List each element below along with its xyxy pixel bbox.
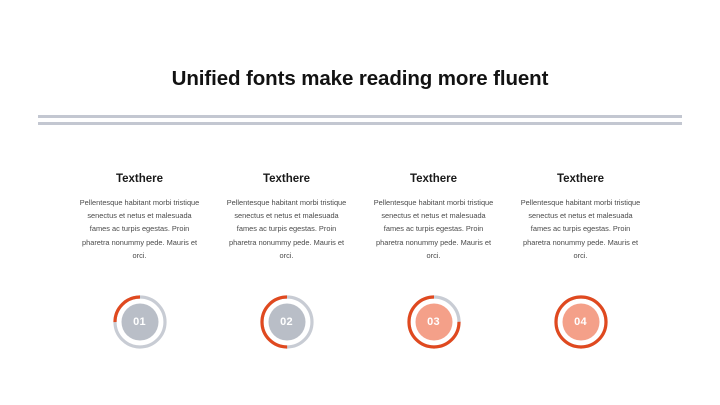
page-title: Unified fonts make reading more fluent — [0, 66, 720, 92]
column-body-text: Pellentesque habitant morbi tristique se… — [78, 196, 202, 262]
column-3: Texthere Pellentesque habitant morbi tri… — [361, 172, 506, 262]
column-2: Texthere Pellentesque habitant morbi tri… — [214, 172, 359, 262]
badge-cell-2: 02 — [214, 294, 359, 350]
progress-badge-row: 01 02 03 — [0, 294, 720, 350]
column-heading: Texthere — [116, 172, 163, 186]
column-heading: Texthere — [557, 172, 604, 186]
text-columns: Texthere Pellentesque habitant morbi tri… — [0, 172, 720, 262]
progress-badge-03: 03 — [406, 294, 462, 350]
badge-cell-4: 04 — [508, 294, 653, 350]
divider-line-bottom — [38, 122, 682, 125]
progress-ring-icon — [553, 294, 609, 350]
progress-badge-02: 02 — [259, 294, 315, 350]
column-heading: Texthere — [263, 172, 310, 186]
progress-ring-icon — [259, 294, 315, 350]
column-1: Texthere Pellentesque habitant morbi tri… — [67, 172, 212, 262]
slide-canvas: Unified fonts make reading more fluent T… — [0, 0, 720, 405]
column-body-text: Pellentesque habitant morbi tristique se… — [372, 196, 496, 262]
divider — [38, 114, 682, 126]
column-body-text: Pellentesque habitant morbi tristique se… — [519, 196, 643, 262]
badge-cell-1: 01 — [67, 294, 212, 350]
column-body-text: Pellentesque habitant morbi tristique se… — [225, 196, 349, 262]
progress-badge-01: 01 — [112, 294, 168, 350]
progress-ring-icon — [112, 294, 168, 350]
column-4: Texthere Pellentesque habitant morbi tri… — [508, 172, 653, 262]
progress-badge-04: 04 — [553, 294, 609, 350]
badge-cell-3: 03 — [361, 294, 506, 350]
column-heading: Texthere — [410, 172, 457, 186]
divider-line-top — [38, 115, 682, 118]
progress-ring-icon — [406, 294, 462, 350]
